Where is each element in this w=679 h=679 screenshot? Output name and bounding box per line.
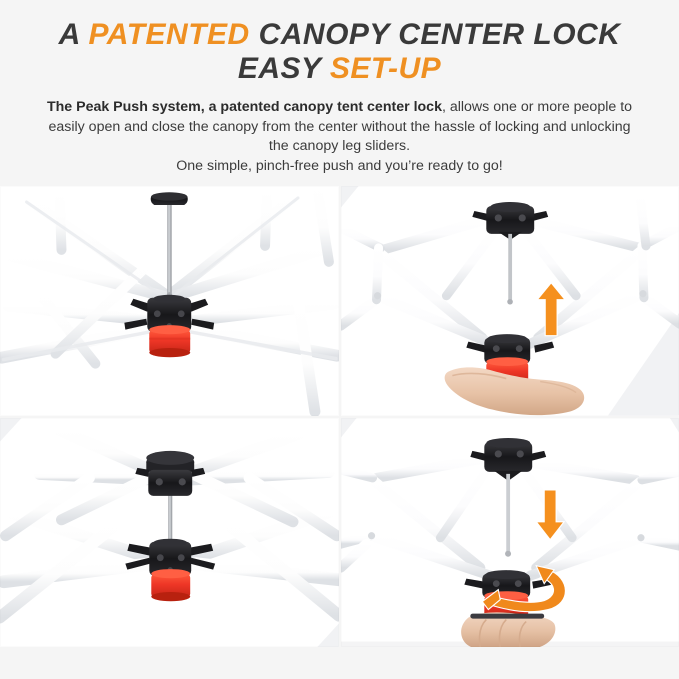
panel-4-illustration [341, 418, 679, 648]
headline-text-easy: EASY [238, 52, 330, 85]
panel-2-illustration [341, 186, 679, 416]
description-last-line: One simple, pinch-free push and you’re r… [176, 158, 503, 174]
panel-closed-top-view [0, 186, 339, 416]
panel-3-illustration [0, 418, 339, 648]
hands-gripping [461, 612, 555, 647]
headline-accent-patented: PATENTED [89, 18, 250, 51]
description-paragraph: The Peak Push system, a patented canopy … [40, 98, 640, 176]
panel-push-up [341, 186, 679, 416]
panel-grid [0, 186, 679, 647]
description-bold-lead: The Peak Push system, a patented canopy … [47, 99, 442, 115]
header: A PATENTED CANOPY CENTER LOCK EASY SET-U… [0, 0, 679, 176]
headline-line-2: EASY SET-UP [30, 52, 649, 85]
headline-text-a: A [59, 18, 89, 51]
panel-1-illustration [0, 186, 339, 416]
headline-accent-setup: SET-UP [330, 52, 441, 85]
panel-pull-down-twist [341, 418, 679, 648]
headline-line-1: A PATENTED CANOPY CENTER LOCK [30, 18, 649, 51]
panel-open-locked [0, 418, 339, 648]
headline-text-b: CANOPY CENTER LOCK [250, 18, 621, 51]
